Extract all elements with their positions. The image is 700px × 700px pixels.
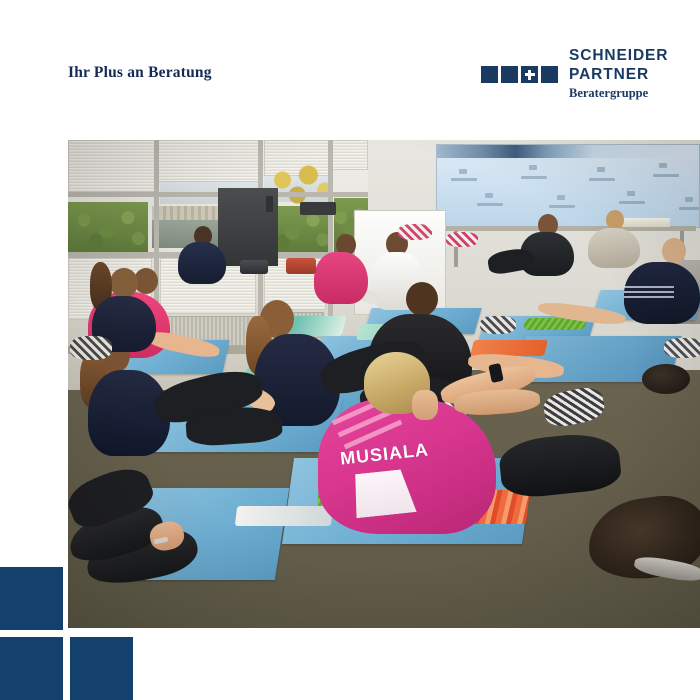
control-panel	[266, 196, 273, 212]
page-title: Ihr Plus an Beratung	[68, 64, 212, 82]
person-head	[110, 268, 138, 298]
logo-square-group	[481, 66, 558, 83]
logo-square-2	[501, 66, 518, 83]
slide-text-line	[679, 207, 700, 210]
logo-square-4	[541, 66, 558, 83]
logo-plus-icon	[521, 66, 538, 83]
person-torso	[178, 242, 226, 284]
slide-text-line	[477, 203, 503, 206]
person-torso	[588, 228, 640, 268]
logo-wordmark: SCHNEIDER PARTNER Beratergruppe	[569, 46, 643, 101]
towel	[235, 506, 333, 526]
slide-icon	[557, 195, 565, 200]
photo-scene: MUSIALA	[68, 140, 700, 628]
outdoor-hedge	[68, 202, 148, 254]
athletic-shoe	[480, 316, 516, 334]
person-head	[406, 282, 438, 316]
logo-subtitle: Beratergruppe	[569, 85, 644, 101]
slide-text-line	[619, 201, 645, 204]
slide-icon	[459, 169, 467, 174]
athletic-shoe	[446, 232, 478, 247]
corner-decoration	[0, 567, 140, 700]
person-head	[662, 238, 686, 264]
slide-text-line	[589, 178, 615, 181]
slide-icon	[659, 163, 667, 168]
hero-photo: MUSIALA	[68, 140, 700, 628]
slide-text-line	[653, 174, 679, 177]
bag-red	[286, 258, 316, 274]
window-blind	[158, 140, 262, 182]
person-arm	[296, 288, 324, 301]
company-logo: SCHNEIDER PARTNER Beratergruppe	[481, 46, 643, 102]
slide-text-line	[521, 176, 547, 179]
window-blind	[68, 140, 156, 192]
decor-square-1	[0, 567, 63, 630]
slide-text-line	[451, 178, 477, 181]
slide-icon	[485, 193, 493, 198]
logo-square-1	[481, 66, 498, 83]
decor-square-2	[0, 637, 63, 700]
logo-name-partner: PARTNER	[569, 65, 643, 84]
slide-text-line	[549, 205, 575, 208]
athletic-shoe	[664, 338, 700, 358]
page-root: Ihr Plus an Beratung SCHNEIDER PARTNER B…	[0, 0, 700, 700]
gym-bag	[642, 364, 690, 394]
bag-dark-small	[240, 260, 268, 274]
slide-icon	[685, 197, 693, 202]
slide-icon	[597, 167, 605, 172]
slide-icon	[529, 165, 537, 170]
page-header: Ihr Plus an Beratung SCHNEIDER PARTNER B…	[0, 0, 700, 140]
decor-square-3	[70, 637, 133, 700]
slide-icon	[627, 191, 635, 196]
presentation-screen	[436, 144, 700, 228]
projector	[300, 202, 336, 215]
logo-name-schneider: SCHNEIDER	[569, 46, 643, 65]
athletic-shoe	[398, 224, 432, 240]
shirt-print	[624, 286, 674, 298]
slide-header-band	[437, 145, 699, 158]
athletic-shoe	[70, 336, 112, 360]
person-neck	[412, 390, 438, 420]
person-head	[606, 210, 624, 230]
